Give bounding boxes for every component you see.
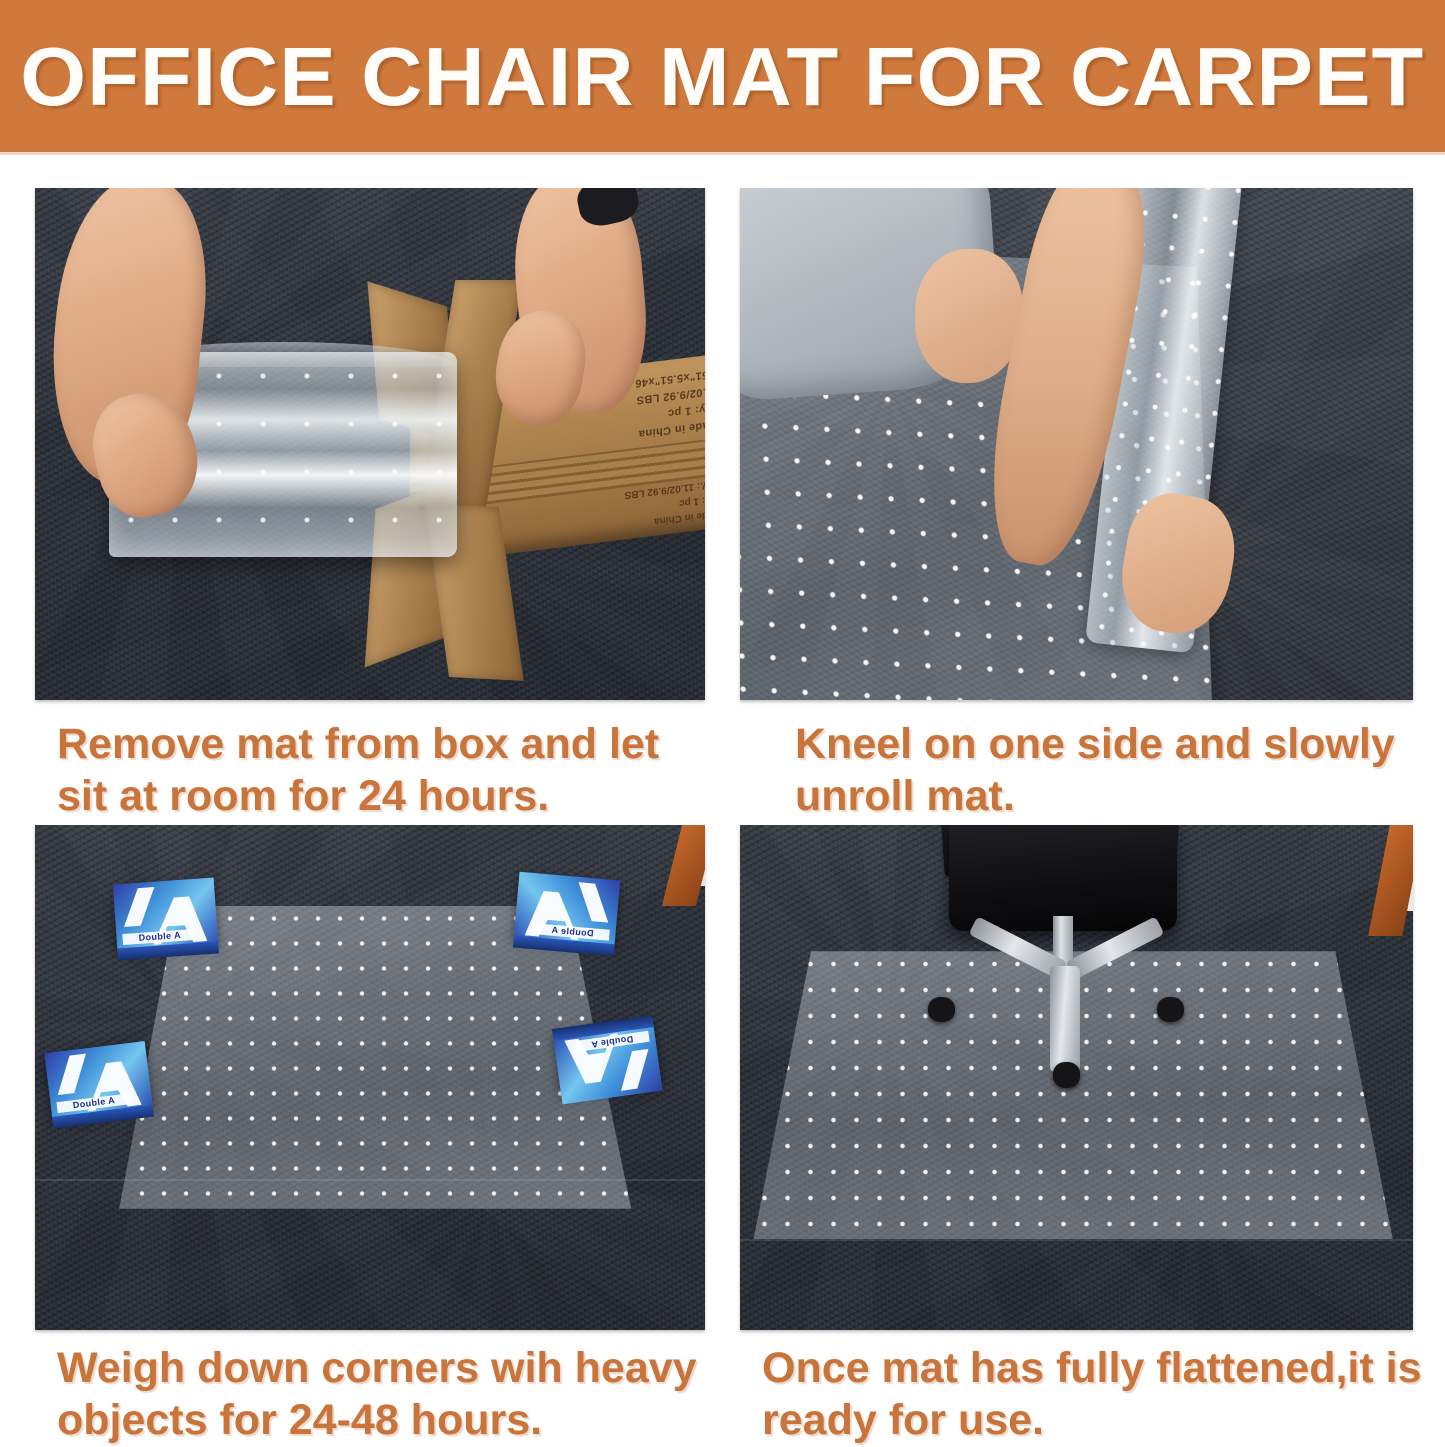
photo-unroll-mat — [740, 188, 1413, 700]
step-4-photo — [740, 825, 1413, 1330]
page-title: OFFICE CHAIR MAT FOR CARPET — [21, 35, 1425, 118]
step-3-caption: Weigh down corners wih heavy objects for… — [57, 1342, 717, 1447]
ream-face: Double A — [113, 877, 218, 949]
carpet-seam-line — [740, 1239, 1413, 1241]
banner-divider — [0, 152, 1445, 155]
ream-face: Double A — [515, 871, 621, 945]
paper-ream-top-right: Double A — [515, 871, 621, 945]
chair-base-leg-front — [1050, 966, 1080, 1072]
step-4-caption: Once mat has fully flattened,it is ready… — [762, 1342, 1432, 1447]
ream-logo-lowercase-a — [563, 881, 612, 923]
knee — [915, 249, 1023, 382]
chair-caster-front — [1053, 1062, 1080, 1087]
ream-logo-lowercase-a — [53, 1052, 104, 1095]
step-1-caption: Remove mat from box and let sit at room … — [57, 718, 717, 823]
paper-ream-top-left: Double A — [113, 877, 218, 949]
ream-logo-lowercase-a — [122, 886, 171, 927]
step-2-caption: Kneel on one side and slowly unroll mat. — [795, 718, 1435, 823]
paper-ream-bottom-right: Double A — [554, 1025, 663, 1104]
chair-caster-right — [1157, 997, 1184, 1022]
paper-ream-bottom-left: Double A — [45, 1041, 153, 1118]
chair-caster-left — [928, 997, 955, 1022]
ream-brand-label: Double A — [123, 928, 198, 944]
step-2-photo — [740, 188, 1413, 700]
header-banner: OFFICE CHAIR MAT FOR CARPET — [0, 0, 1445, 152]
steps-grid: Made in ChinaQty: 1 pc11.02/9.92 LBS3.51… — [0, 160, 1445, 1440]
photo-unbox-mat: Made in ChinaQty: 1 pc11.02/9.92 LBS3.51… — [35, 188, 705, 700]
step-1-photo: Made in ChinaQty: 1 pc11.02/9.92 LBS3.51… — [35, 188, 705, 700]
photo-chair-on-mat — [740, 825, 1413, 1330]
step-3-photo: Double A Double A Double A — [35, 825, 705, 1330]
photo-weighted-corners: Double A Double A Double A — [35, 825, 705, 1330]
